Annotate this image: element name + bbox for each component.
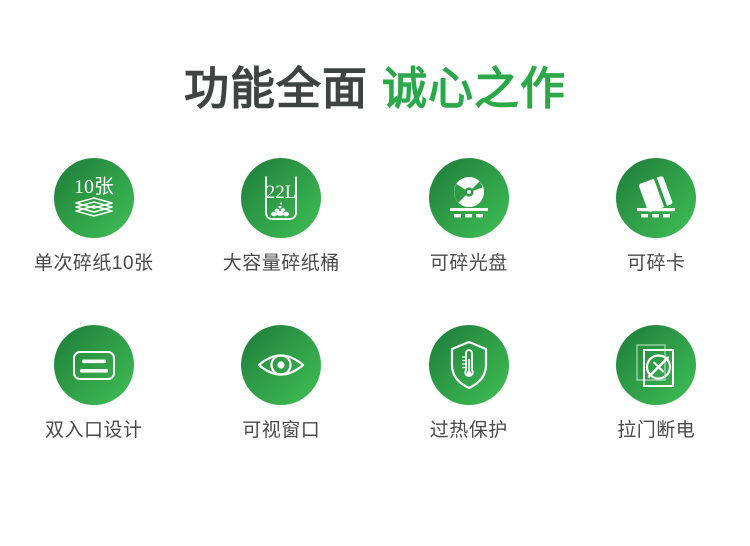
page-title: 功能全面诚心之作: [0, 52, 750, 117]
page-title-main: 功能全面: [184, 63, 368, 114]
feature-label: 双入口设计: [45, 421, 143, 440]
bin-capacity-icon-text: 22L: [266, 182, 297, 203]
feature-grid: 10张 单次碎纸10张 22L: [0, 158, 750, 440]
feature-badge: 10张: [54, 158, 134, 238]
shield-thermometer-icon: [438, 334, 500, 396]
feature-label: 单次碎纸10张: [34, 254, 154, 273]
paper-stack-icon: 10张: [63, 167, 125, 229]
feature-label: 可碎卡: [627, 254, 686, 273]
feature-item: 可碎卡: [563, 158, 750, 273]
feature-item: 可碎光盘: [375, 158, 563, 273]
feature-badge: [616, 325, 696, 405]
feature-label: 可碎光盘: [430, 254, 508, 273]
feature-badge: [429, 325, 509, 405]
feature-item: 22L 大容量碎纸桶: [188, 158, 376, 273]
dual-slot-icon: [63, 334, 125, 396]
card-shred-icon: [625, 167, 687, 229]
door-power-cut-icon: [625, 334, 687, 396]
feature-badge: [429, 158, 509, 238]
feature-item: 双入口设计: [0, 325, 188, 440]
feature-label: 可视窗口: [242, 421, 320, 440]
feature-item: 过热保护: [375, 325, 563, 440]
cd-disc-shred-icon: [438, 167, 500, 229]
page-title-accent: 诚心之作: [382, 63, 566, 114]
feature-badge: 22L: [241, 158, 321, 238]
feature-item: 可视窗口: [188, 325, 376, 440]
feature-label: 过热保护: [430, 421, 508, 440]
feature-badge: [54, 325, 134, 405]
feature-badge: [616, 158, 696, 238]
feature-badge: [241, 325, 321, 405]
promo-feature-page: 功能全面诚心之作 10张 单次碎纸10张: [0, 0, 750, 546]
eye-window-icon: [250, 334, 312, 396]
paper-stack-icon-text: 10张: [74, 175, 114, 198]
bin-capacity-icon: 22L: [250, 167, 312, 229]
feature-label: 大容量碎纸桶: [223, 254, 340, 273]
feature-item: 拉门断电: [563, 325, 750, 440]
feature-item: 10张 单次碎纸10张: [0, 158, 188, 273]
feature-label: 拉门断电: [617, 421, 695, 440]
